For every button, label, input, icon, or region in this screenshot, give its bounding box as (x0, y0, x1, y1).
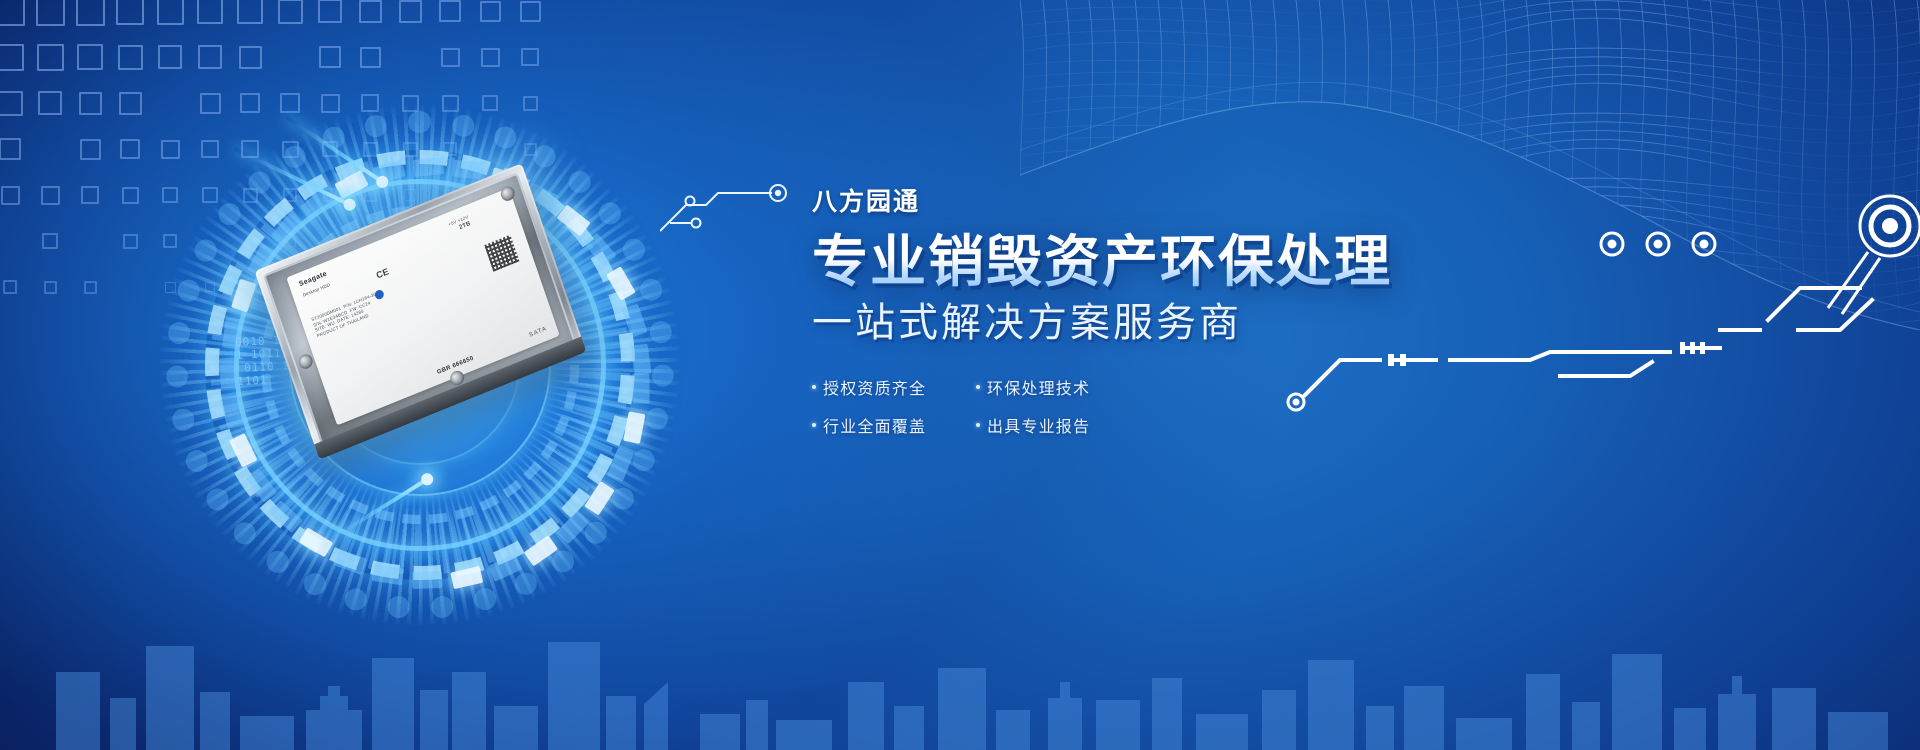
feature-label: 出具专业报告 (987, 413, 1090, 437)
hdd-ce-mark: CE (376, 269, 390, 279)
ring-block (413, 157, 445, 177)
subtitle: 一站式解决方案服务商 (812, 301, 1552, 345)
banner-copy-block: 八方园通 专业销毁资产环保处理 一站式解决方案服务商 授权资质齐全 环保处理技术… (812, 182, 1552, 437)
hdd-specs-text: ST2000DM001 P/N: 1CH164-300 S/N: W1E3ABC… (311, 290, 385, 338)
hdd-capacity-text: 2TB (459, 222, 472, 232)
bullet-dot-icon (812, 385, 816, 389)
ring-block (633, 374, 650, 404)
bullet-dot-icon (976, 385, 980, 389)
feature-label: 环保处理技术 (987, 375, 1090, 399)
feature-label: 行业全面覆盖 (823, 413, 926, 437)
hdd-interface-text: SATA (529, 327, 548, 339)
connector-line-decoration (660, 165, 810, 235)
hero-banner: 0010 1001 100 1 1011 001 11 0110 111 01 … (0, 0, 1920, 750)
list-item: 授权资质齐全 (812, 375, 954, 399)
brand-name: 八方园通 (812, 182, 1552, 218)
list-item: 环保处理技术 (976, 375, 1118, 399)
feature-label: 授权资质齐全 (823, 375, 926, 399)
city-skyline-decoration (0, 550, 1920, 750)
ring-block (452, 160, 483, 180)
page-title: 专业销毁资产环保处理 (812, 232, 1552, 291)
list-item: 出具专业报告 (976, 413, 1118, 437)
hdd-qr-code (484, 235, 519, 272)
list-item: 行业全面覆盖 (812, 413, 954, 437)
feature-list: 授权资质齐全 环保处理技术 行业全面覆盖 出具专业报告 (812, 375, 1132, 437)
bullet-dot-icon (976, 423, 980, 427)
bullet-dot-icon (812, 423, 816, 427)
ring-block (219, 357, 238, 388)
